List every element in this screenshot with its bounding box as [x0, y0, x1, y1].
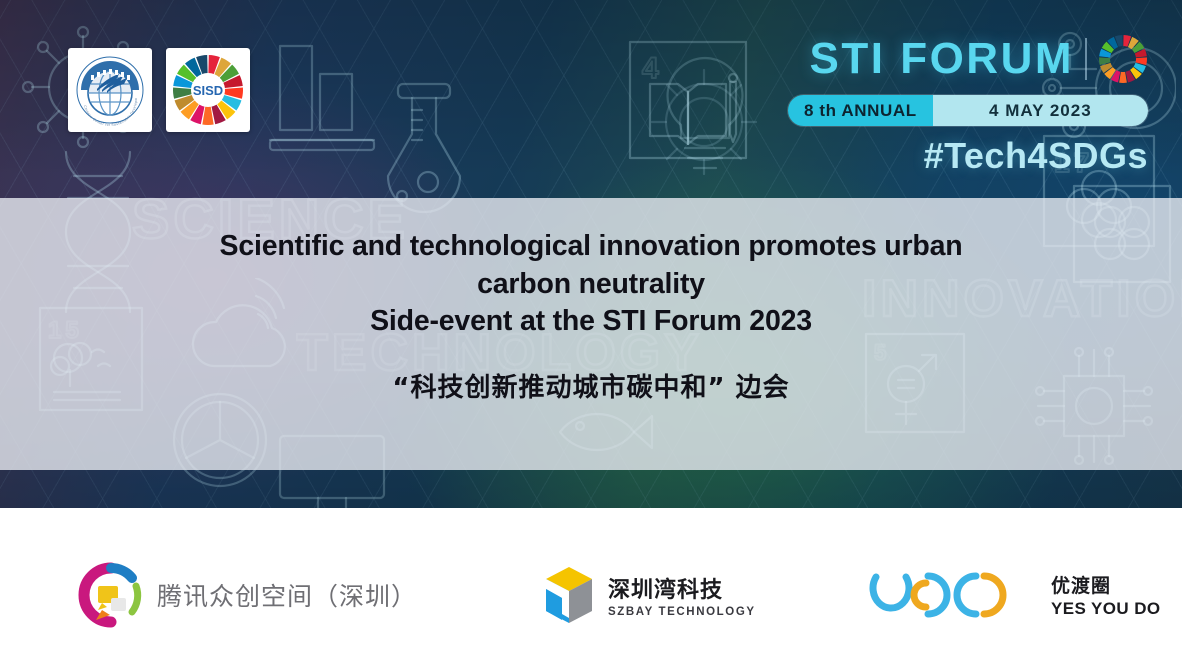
- title-line-1: Scientific and technological innovation …: [91, 228, 1091, 266]
- sponsor-logo-row: 腾讯众创空间（深圳） 深圳湾科技 SZBAY TECHNOLOGY: [0, 560, 1182, 630]
- sponsor-yesyoudo-label-en: YES YOU DO: [1051, 599, 1161, 619]
- cisd-institute-logo: Chinese Center for Sustainable Developme…: [68, 48, 152, 132]
- event-date-pill: 8 th ANNUAL 4 MAY 2023: [788, 95, 1148, 126]
- szbay-cube-icon: [543, 564, 595, 626]
- pill-date-label: 4 MAY 2023: [933, 95, 1148, 126]
- sponsor-szbay-label-en: SZBAY TECHNOLOGY: [608, 606, 756, 618]
- sti-forum-wordmark: STI FORUM: [810, 37, 1074, 81]
- pill-annual-label: 8 th ANNUAL: [788, 95, 933, 126]
- sponsor-yes-you-do: 优渡圈 YES YOU DO: [866, 567, 1161, 623]
- sdg-colorwheel-icon: [1098, 34, 1148, 84]
- event-banner: 4: [0, 0, 1182, 508]
- globe-arrows-emblem-icon: Chinese Center for Sustainable Developme…: [73, 53, 147, 127]
- sisd-sdg-wheel-logo: SISD: [166, 48, 250, 132]
- sti-forum-lockup: STI FORUM 8 th ANNUAL 4 MAY 2023 #Tech4S…: [788, 34, 1148, 177]
- sponsor-szbay-label-zh: 深圳湾科技: [608, 572, 756, 604]
- sponsor-footer: 腾讯众创空间（深圳） 深圳湾科技 SZBAY TECHNOLOGY: [0, 508, 1182, 669]
- sponsor-yesyoudo-label-zh: 优渡圈: [1051, 571, 1161, 598]
- event-hashtag: #Tech4SDGs: [788, 135, 1148, 177]
- page-title: Scientific and technological innovation …: [91, 228, 1091, 341]
- slide-root: 4: [0, 0, 1182, 669]
- header-logo-group: Chinese Center for Sustainable Developme…: [68, 48, 250, 132]
- tencent-makerspace-mark-icon: [78, 562, 144, 628]
- sisd-wordmark: SISD: [193, 83, 223, 98]
- page-subtitle-chinese: “科技创新推动城市碳中和” 边会: [91, 367, 1091, 404]
- yes-you-do-arcs-icon: [866, 567, 1038, 623]
- title-block: Scientific and technological innovation …: [0, 198, 1182, 470]
- sdg-wheel-icon: SISD: [171, 53, 245, 127]
- sponsor-szbay-technology: 深圳湾科技 SZBAY TECHNOLOGY: [543, 564, 756, 626]
- lockup-divider: [1085, 38, 1087, 80]
- sponsor-tencent-label: 腾讯众创空间（深圳）: [157, 577, 417, 613]
- title-line-2: carbon neutrality: [91, 266, 1091, 304]
- sponsor-tencent-makerspace: 腾讯众创空间（深圳）: [78, 562, 417, 628]
- title-line-3: Side-event at the STI Forum 2023: [91, 303, 1091, 341]
